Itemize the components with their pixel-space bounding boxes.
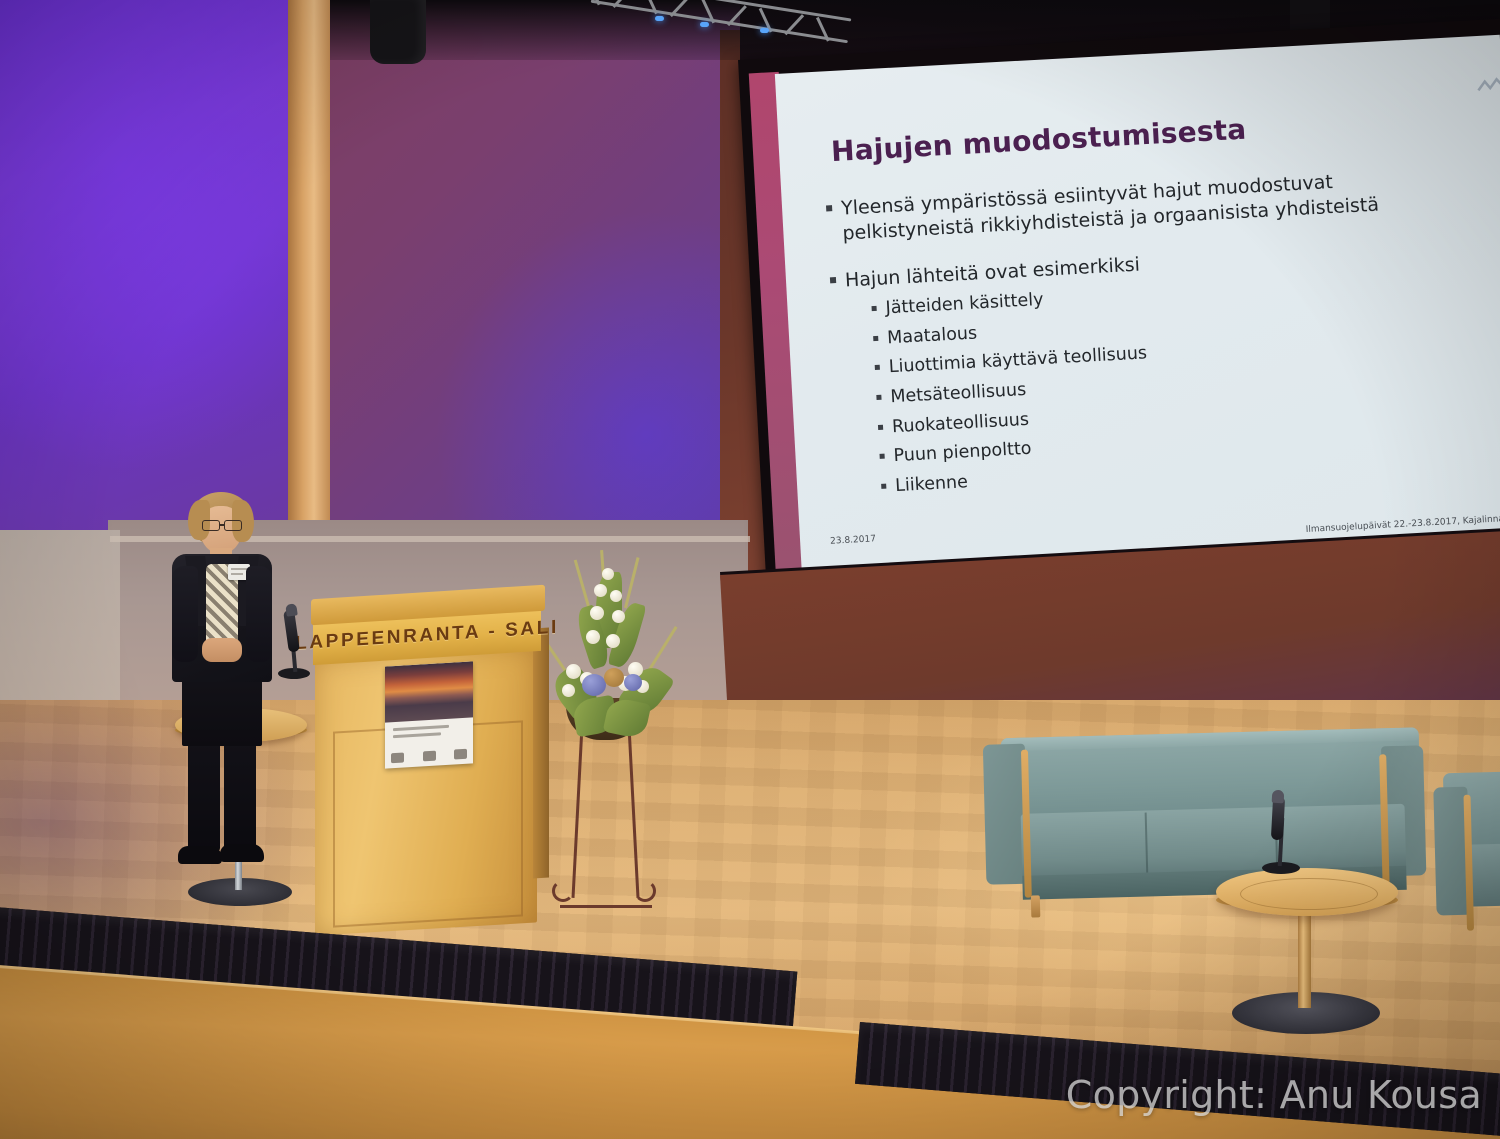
lower-wall-left — [0, 530, 120, 720]
bullet-square-icon — [826, 205, 832, 211]
bullet-square-icon — [880, 454, 885, 459]
bullet-square-icon — [878, 424, 883, 429]
stage-light-icon — [700, 22, 709, 27]
presentation-photo: Hajujen muodostumisesta Yleensä ympärist… — [0, 0, 1500, 1139]
sponsor-logo-icon — [454, 749, 467, 760]
podium: LAPPEENRANTA - SALI — [305, 592, 545, 937]
bullet-square-icon — [872, 306, 877, 311]
presentation-slide: Hajujen muodostumisesta Yleensä ympärist… — [775, 35, 1500, 571]
purple-wall-glow — [0, 0, 300, 560]
slide-bullet-1: Yleensä ympäristössä esiintyvät hajut mu… — [826, 162, 1478, 247]
bullet-square-icon — [875, 365, 880, 370]
slide-sub-bullet-text: Maatalous — [887, 322, 978, 350]
slide-sub-bullets: Jätteiden käsittelyMaatalousLiuottimia k… — [871, 265, 1491, 498]
bullet-square-icon — [873, 336, 878, 341]
side-table-right-post — [1298, 900, 1311, 1008]
hanging-speaker-icon — [370, 0, 426, 64]
hands — [202, 638, 242, 662]
slide-footer-date: 23.8.2017 — [830, 534, 876, 546]
slide-sub-bullet-text: Metsäteollisuus — [890, 379, 1027, 409]
slide-sub-bullet-text: Liikenne — [895, 471, 969, 498]
sponsor-logo-icon — [391, 752, 404, 763]
event-poster — [385, 661, 473, 768]
speaker-person — [150, 492, 290, 874]
slide-bullet-1-text: Yleensä ympäristössä esiintyvät hajut mu… — [841, 164, 1443, 247]
slide-title: Hajujen muodostumisesta — [830, 113, 1247, 168]
stage-light-icon — [655, 16, 664, 21]
shoe-left — [178, 846, 222, 864]
pillar — [288, 0, 330, 566]
stage-light-icon — [760, 28, 769, 33]
slide-sub-bullet-text: Jätteiden käsittely — [885, 289, 1044, 321]
poster-text — [393, 724, 463, 742]
flower-arrangement — [540, 548, 690, 948]
bullet-square-icon — [876, 395, 881, 400]
slide-sub-bullet-text: Ruokateollisuus — [891, 408, 1029, 438]
sponsor-logo-icon — [423, 751, 436, 762]
bullet-square-icon — [881, 483, 886, 488]
corporate-logo-icon — [1476, 76, 1500, 96]
projection-screen: Hajujen muodostumisesta Yleensä ympärist… — [738, 19, 1500, 590]
shoe-right — [220, 844, 264, 862]
poster-logos — [391, 749, 467, 764]
poster-photo — [385, 661, 473, 722]
sofa-secondary — [1433, 770, 1500, 933]
bullet-square-icon — [830, 277, 836, 283]
slide-body: Yleensä ympäristössä esiintyvät hajut mu… — [826, 162, 1492, 507]
slide-sub-bullet-text: Puun pienpoltto — [893, 438, 1032, 469]
glasses-icon — [202, 520, 242, 529]
